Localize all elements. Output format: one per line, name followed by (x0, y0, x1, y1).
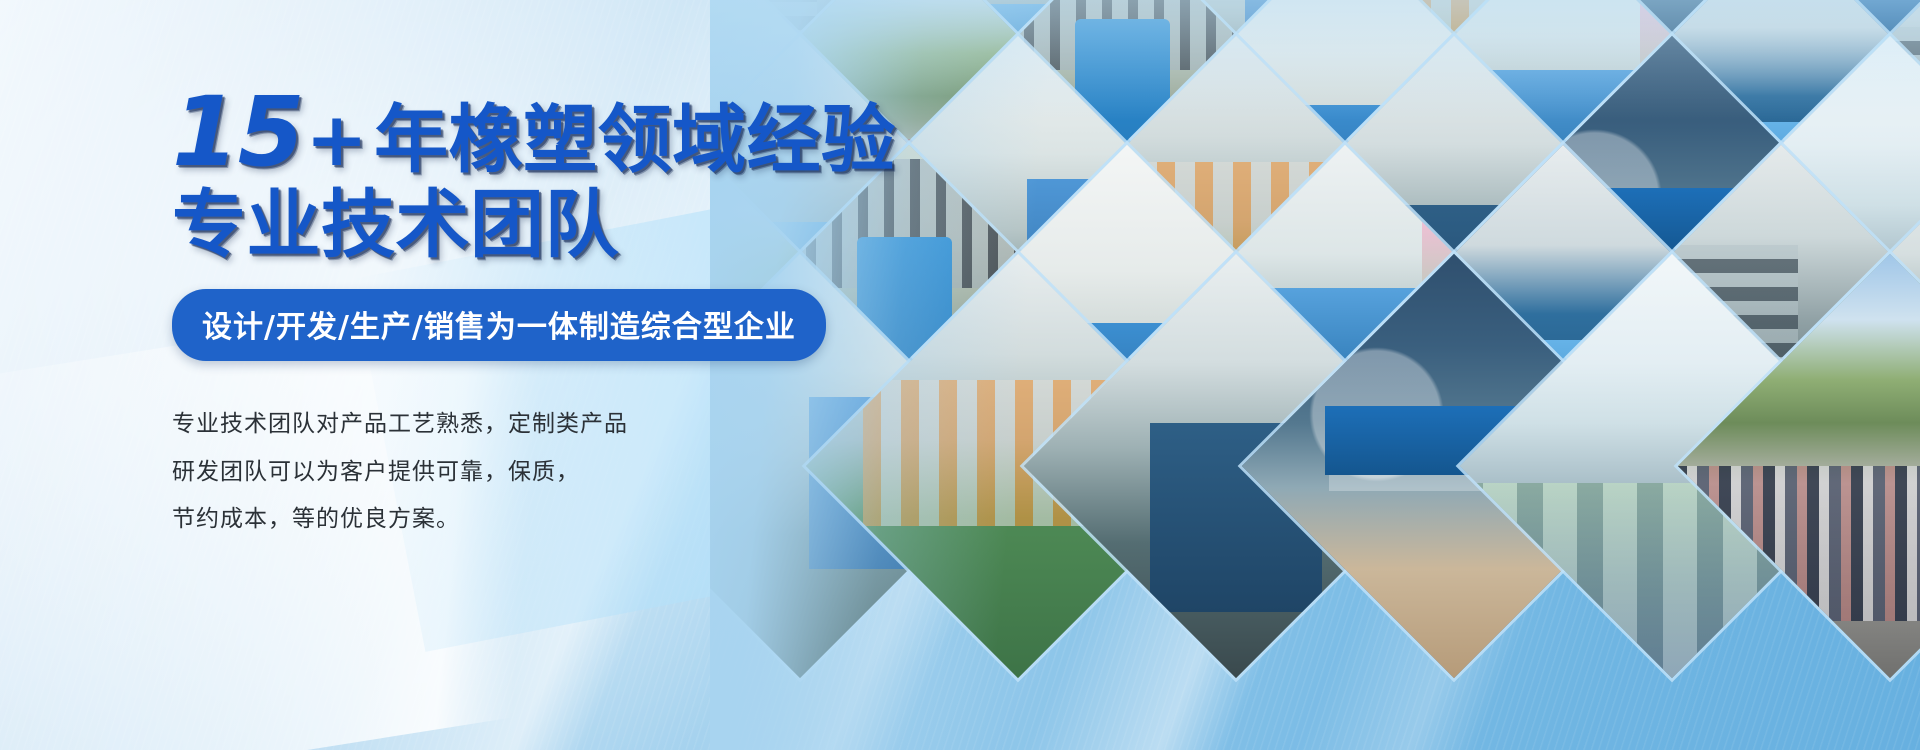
plus-symbol: + (306, 97, 369, 183)
company-hero-banner: 15+年橡塑领域经验 专业技术团队 设计/开发/生产/销售为一体制造综合型企业 … (0, 0, 1920, 750)
capability-badge: 设计/开发/生产/销售为一体制造综合型企业 (172, 289, 826, 361)
description-line-1: 专业技术团队对产品工艺熟悉，定制类产品 (172, 401, 932, 448)
headline-line-1-text: 年橡塑领域经验 (374, 97, 896, 183)
description-paragraph: 专业技术团队对产品工艺熟悉，定制类产品 研发团队可以为客户提供可靠，保质， 节约… (172, 401, 932, 542)
headline-line-1: 15+年橡塑领域经验 (172, 84, 932, 182)
years-number: 15 (172, 76, 304, 188)
description-line-2: 研发团队可以为客户提供可靠，保质， (172, 449, 932, 496)
headline-line-2: 专业技术团队 (172, 188, 932, 263)
hero-text-block: 15+年橡塑领域经验 专业技术团队 设计/开发/生产/销售为一体制造综合型企业 … (172, 84, 932, 543)
description-line-3: 节约成本，等的优良方案。 (172, 496, 932, 543)
